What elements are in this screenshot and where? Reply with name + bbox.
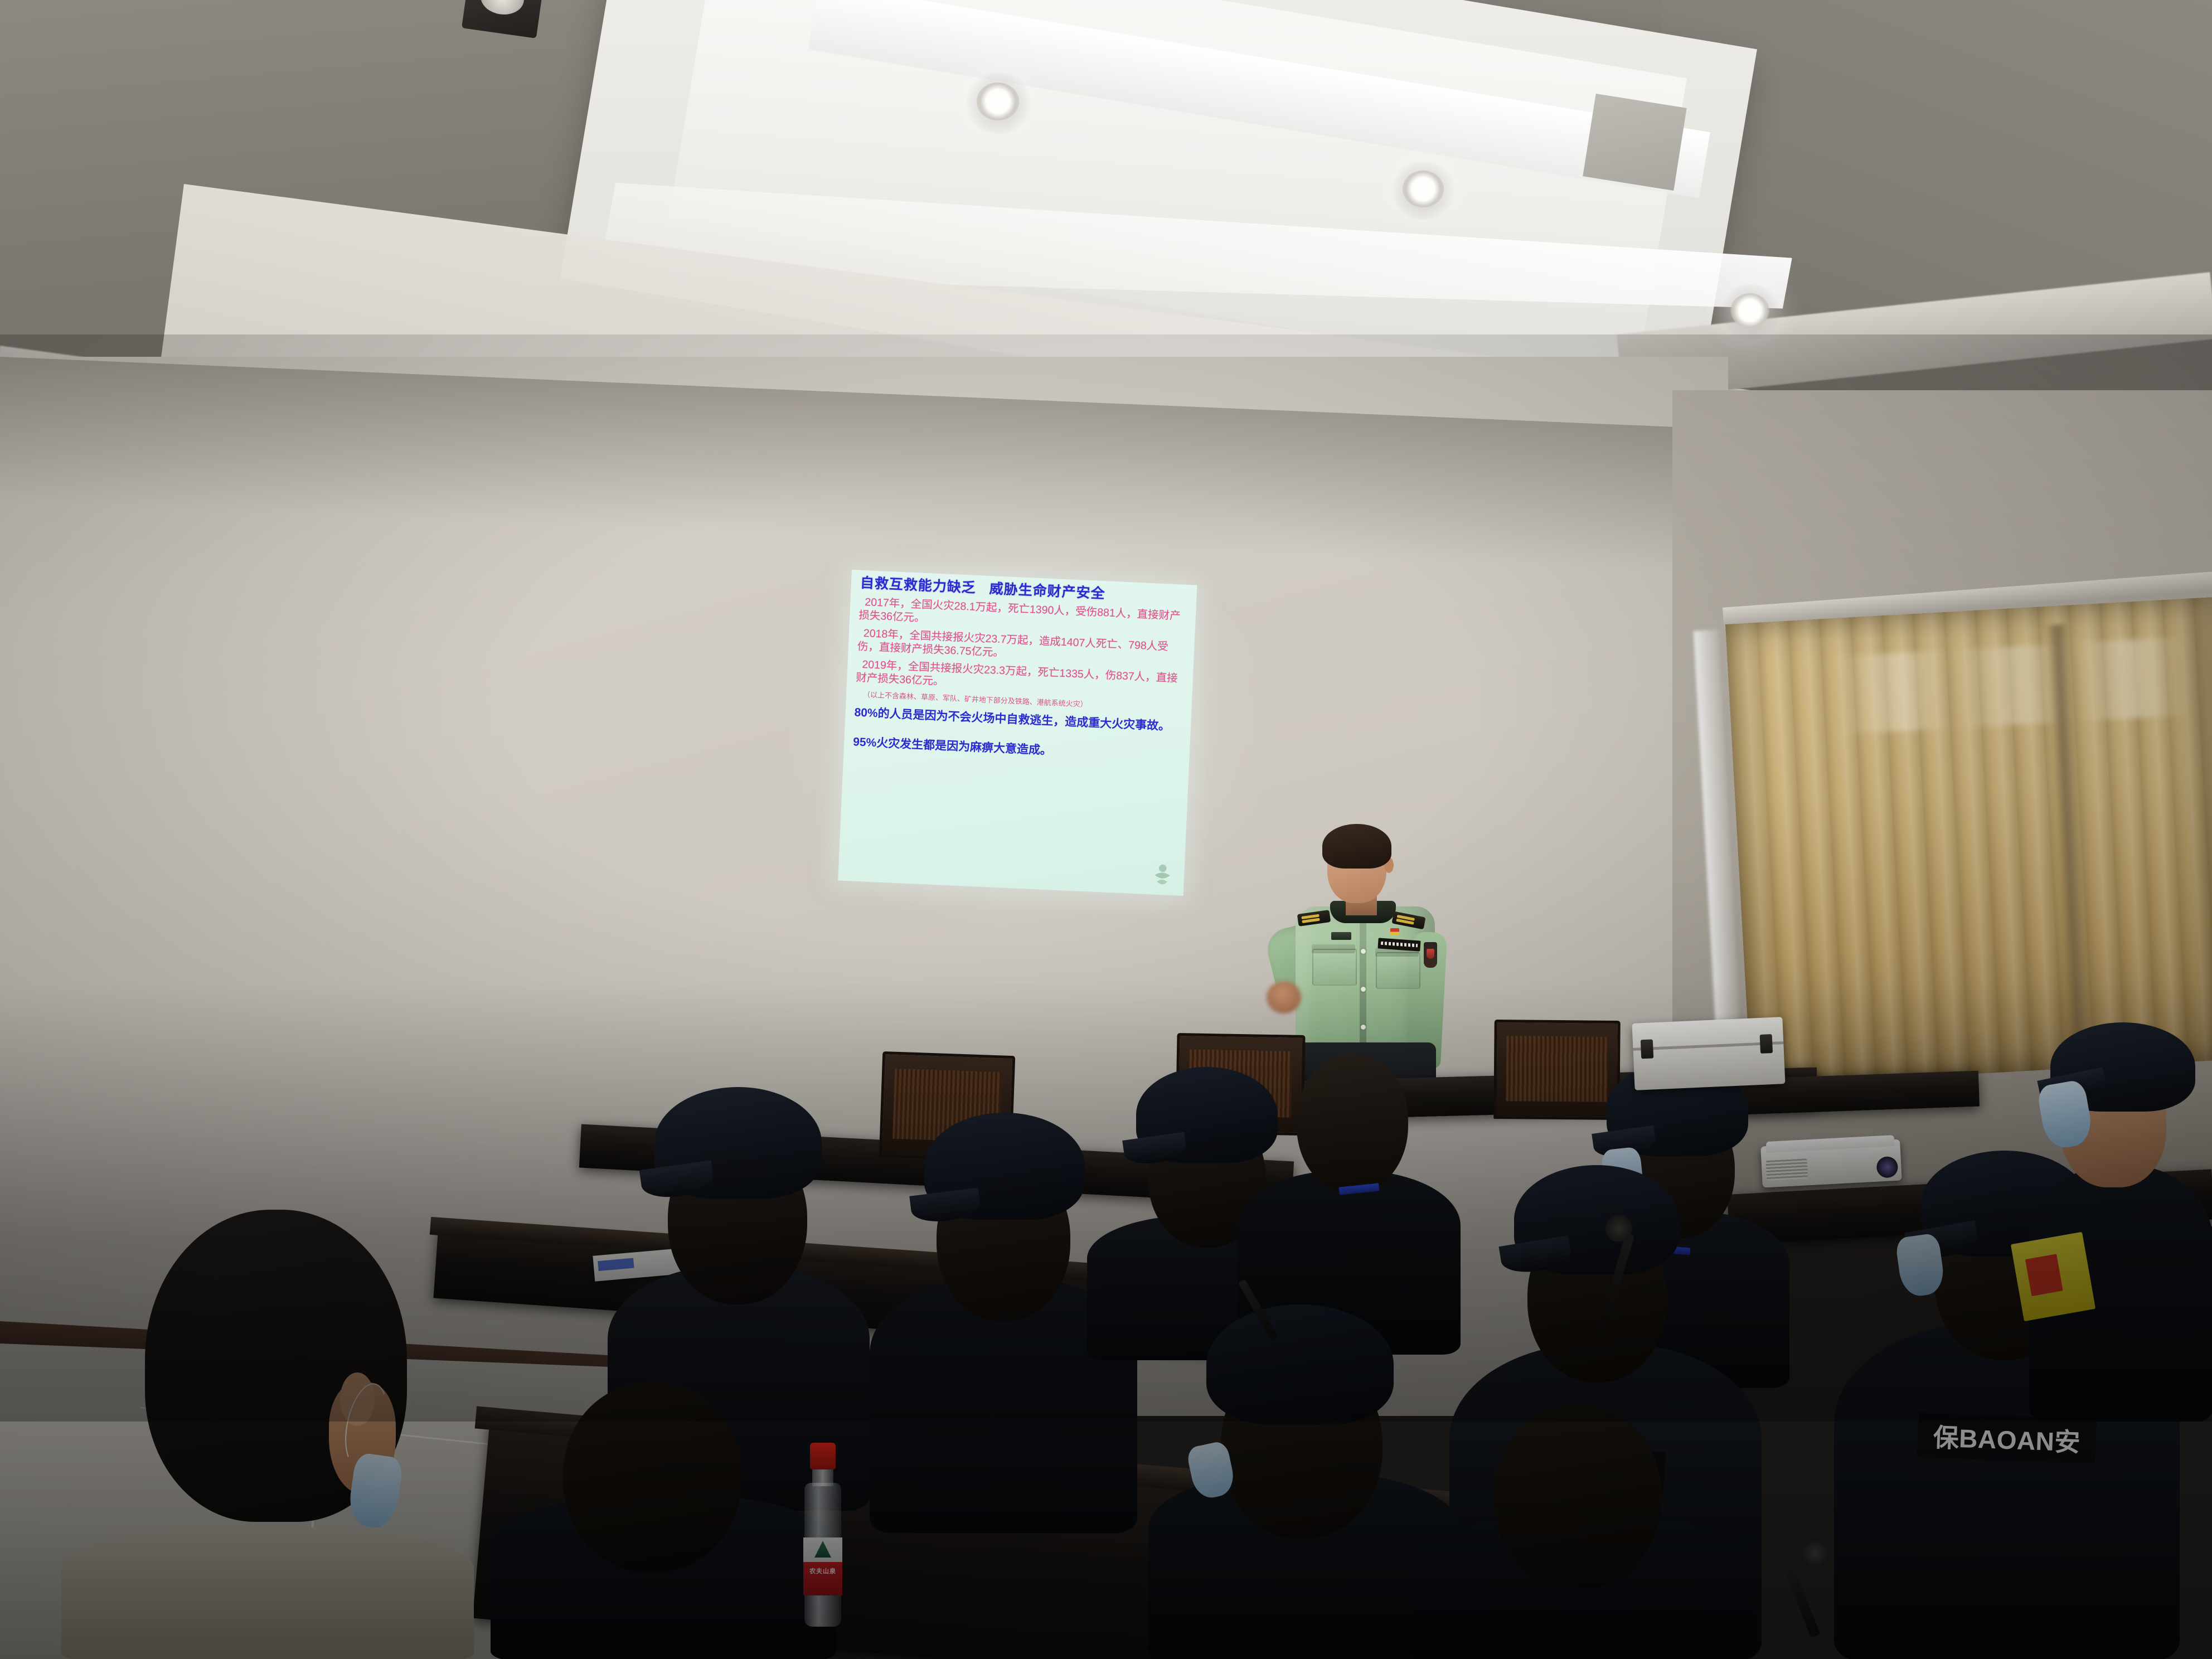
- slide-emphasis-95-text: 火灾发生都是因为麻痹大意造成。: [876, 736, 1052, 757]
- attendee-front-left-b: [491, 1355, 836, 1659]
- attendee-head: [563, 1382, 741, 1572]
- ceiling-downlight-1: [977, 83, 1019, 120]
- desk-microphone-head[interactable]: [1605, 1215, 1632, 1242]
- ceiling-downlight-2: [1403, 171, 1444, 207]
- uniform-cap: [1206, 1304, 1394, 1425]
- equipment-case[interactable]: [1632, 1017, 1786, 1090]
- water-bottle[interactable]: 农夫山泉: [801, 1443, 845, 1627]
- slide-emphasis-80-percent: 80%: [854, 706, 878, 720]
- presenter-left-pocket-flap: [1312, 944, 1355, 953]
- ceiling-downlight-3: [1730, 293, 1769, 328]
- slide-title-right: 威胁生命财产安全: [989, 581, 1105, 601]
- projected-slide: 自救互救能力缺乏威胁生命财产安全 2017年，全国火灾28.1万起，死亡1390…: [838, 570, 1197, 896]
- slide-emphasis-95-percent: 95%: [853, 735, 877, 749]
- presenter-left-pocket: [1312, 949, 1357, 986]
- attendee-far-right: [2029, 998, 2212, 1422]
- slide-emphasis-80-text: 的人员是因为不会火场中自救逃生，造成重大火灾事故。: [877, 707, 1171, 733]
- attendee-head: [1494, 1405, 1661, 1589]
- attendee-front-right-b: [1410, 1371, 1756, 1659]
- presenter-chest-emblem: [1331, 932, 1351, 940]
- presenter-hair: [1322, 824, 1391, 869]
- bottle-brand-label: 农夫山泉: [801, 1566, 845, 1575]
- presenter-button: [1361, 987, 1366, 992]
- projector-vent: [1766, 1158, 1808, 1181]
- desk-microphone-head[interactable]: [1801, 1539, 1830, 1568]
- bottle-cap: [810, 1443, 836, 1469]
- armband: [2011, 1232, 2095, 1321]
- projector[interactable]: [1760, 1134, 1903, 1195]
- attendee-foreground-left: [61, 1215, 474, 1659]
- ceiling-notch: [1583, 94, 1686, 191]
- attendee-row2-center: [1238, 1009, 1461, 1355]
- attendee-shirt: [61, 1527, 474, 1659]
- desk-microphone-stem[interactable]: [1780, 1556, 1821, 1638]
- slide-emphasis-95: 95%火灾发生都是因为麻痹大意造成。: [853, 735, 1182, 764]
- training-room-photo: 自救互救能力缺乏威胁生命财产安全 2017年，全国火灾28.1万起，死亡1390…: [0, 0, 2212, 1659]
- slide-title-left: 自救互救能力缺乏: [860, 575, 976, 596]
- slide-watermark-icon: [1149, 862, 1176, 891]
- presenter-flag-pin-icon: [1390, 928, 1399, 935]
- attendee-head: [1297, 1054, 1408, 1193]
- presenter-button: [1361, 949, 1366, 954]
- presenter-shoulder-patch: [1424, 942, 1437, 968]
- presenter-right-pocket: [1376, 952, 1420, 989]
